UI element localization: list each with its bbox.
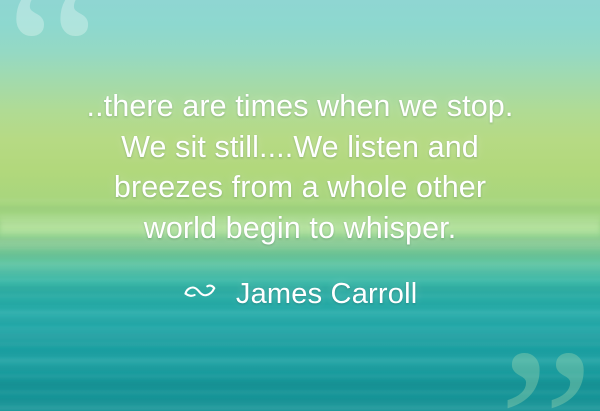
- quote-line-2: We sit still....We listen and: [24, 127, 576, 168]
- author-name: James Carroll: [236, 278, 417, 310]
- quote-card: “ ” ..there are times when we stop. We s…: [0, 0, 600, 411]
- quote-attribution: James Carroll: [24, 278, 576, 311]
- quote-line-3: breezes from a whole other: [24, 167, 576, 208]
- tilde-swash-ornament-icon: [183, 284, 217, 299]
- quote-content: ..there are times when we stop. We sit s…: [0, 86, 600, 311]
- quote-line-1: ..there are times when we stop.: [24, 86, 576, 127]
- water-light-streak-lower: [0, 329, 600, 343]
- quote-line-4: world begin to whisper.: [24, 208, 576, 249]
